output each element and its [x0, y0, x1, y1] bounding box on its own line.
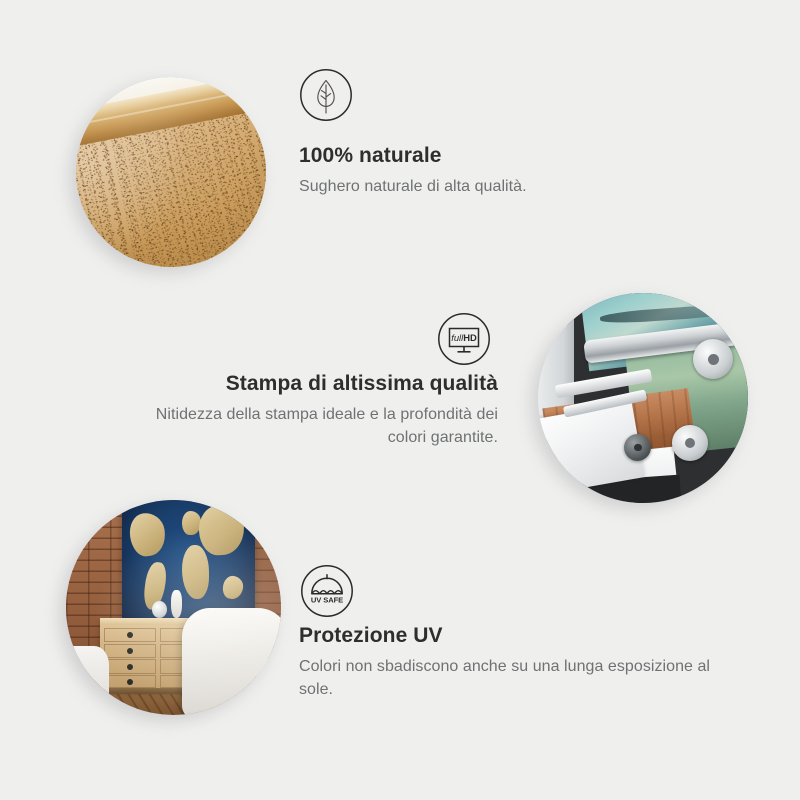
printer-photo-inner	[538, 293, 748, 503]
feature-natural-subtitle: Sughero naturale di alta qualità.	[299, 176, 729, 199]
cork-texture-photo	[76, 77, 266, 267]
cork-vignette	[76, 77, 266, 267]
fullhd-label-bold: HD	[463, 332, 477, 343]
printing-machine-photo	[538, 293, 748, 503]
svg-text:fullHD: fullHD	[451, 332, 477, 343]
feature-print-subtitle: Nitidezza della stampa ideale e la profo…	[140, 404, 498, 449]
uv-safe-umbrella-icon: UV SAFE	[300, 564, 354, 618]
feature-print-title: Stampa di altissima qualità	[140, 371, 498, 397]
room-world-map-photo	[66, 500, 281, 715]
uv-safe-label: UV SAFE	[311, 596, 343, 605]
cork-photo-inner	[76, 77, 266, 267]
room-light-glow	[66, 500, 281, 715]
feature-uv-subtitle: Colori non sbadiscono anche su una lunga…	[299, 656, 729, 701]
feature-natural-text: 100% naturale Sughero naturale di alta q…	[299, 143, 729, 199]
feature-highlights-stage: 100% naturale Sughero naturale di alta q…	[0, 0, 800, 800]
feature-uv-text: Protezione UV Colori non sbadiscono anch…	[299, 623, 729, 702]
feature-natural-title: 100% naturale	[299, 143, 729, 169]
fullhd-monitor-icon: fullHD	[437, 312, 491, 366]
feature-uv-title: Protezione UV	[299, 623, 729, 649]
printer-roller-knob-bottom	[672, 425, 708, 461]
feature-print-text: Stampa di altissima qualità Nitidezza de…	[140, 371, 498, 450]
room-photo-inner	[66, 500, 281, 715]
leaf-icon	[299, 68, 353, 122]
fullhd-label-light: full	[451, 332, 464, 343]
